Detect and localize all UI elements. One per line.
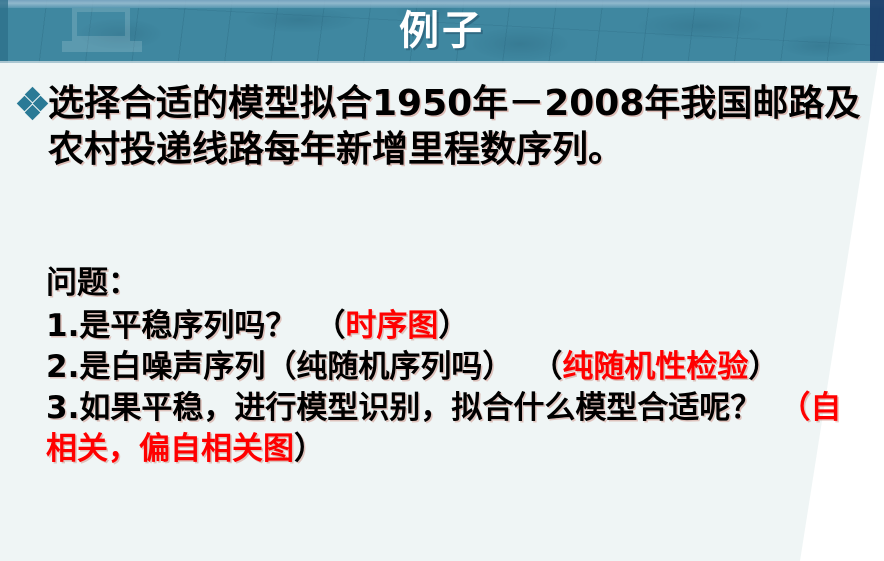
slide-header-banner: 例子	[0, 0, 884, 63]
question-1-number: 1.	[46, 308, 79, 344]
question-2-paren-open: （	[531, 349, 562, 385]
questions-block: 问题： 1.是平稳序列吗？（时序图） 2.是白噪声序列（纯随机序列吗）（纯随机性…	[46, 263, 846, 470]
question-item-1: 1.是平稳序列吗？（时序图）	[46, 306, 846, 347]
bullet-text: 选择合适的模型拟合1950年－2008年我国邮路及农村投递线路每年新增里程数序列…	[48, 81, 870, 173]
question-item-2: 2.是白噪声序列（纯随机序列吗）（纯随机性检验）	[46, 347, 846, 388]
question-2-text: 是白噪声序列（纯随机序列吗）	[79, 349, 513, 385]
question-1-hint: 时序图	[345, 308, 438, 344]
question-3-text: 如果平稳，进行模型识别，拟合什么模型合适呢？	[79, 390, 761, 426]
bullet-item: 选择合适的模型拟合1950年－2008年我国邮路及农村投递线路每年新增里程数序列…	[18, 81, 870, 173]
question-3-paren-close: ）	[294, 431, 325, 467]
question-3-paren-open: （	[779, 390, 810, 426]
question-2-number: 2.	[46, 349, 79, 385]
question-item-3: 3.如果平稳，进行模型识别，拟合什么模型合适呢？（自相关，偏自相关图）	[46, 388, 846, 470]
question-3-number: 3.	[46, 390, 79, 426]
diamond-cluster-icon	[18, 87, 48, 131]
question-1-text: 是平稳序列吗？	[79, 308, 296, 344]
questions-label: 问题：	[46, 263, 846, 304]
slide-title: 例子	[0, 2, 884, 60]
question-2-hint: 纯随机性检验	[562, 349, 748, 385]
question-2-paren-close: ）	[748, 349, 779, 385]
question-1-paren-open: （	[314, 308, 345, 344]
slide-root: 例子 选择合适的模型拟合1950年－2008年我国邮路及农村投递线路每年新增里程…	[0, 0, 884, 561]
slide-content: 选择合适的模型拟合1950年－2008年我国邮路及农村投递线路每年新增里程数序列…	[0, 63, 884, 561]
question-1-paren-close: ）	[438, 308, 469, 344]
